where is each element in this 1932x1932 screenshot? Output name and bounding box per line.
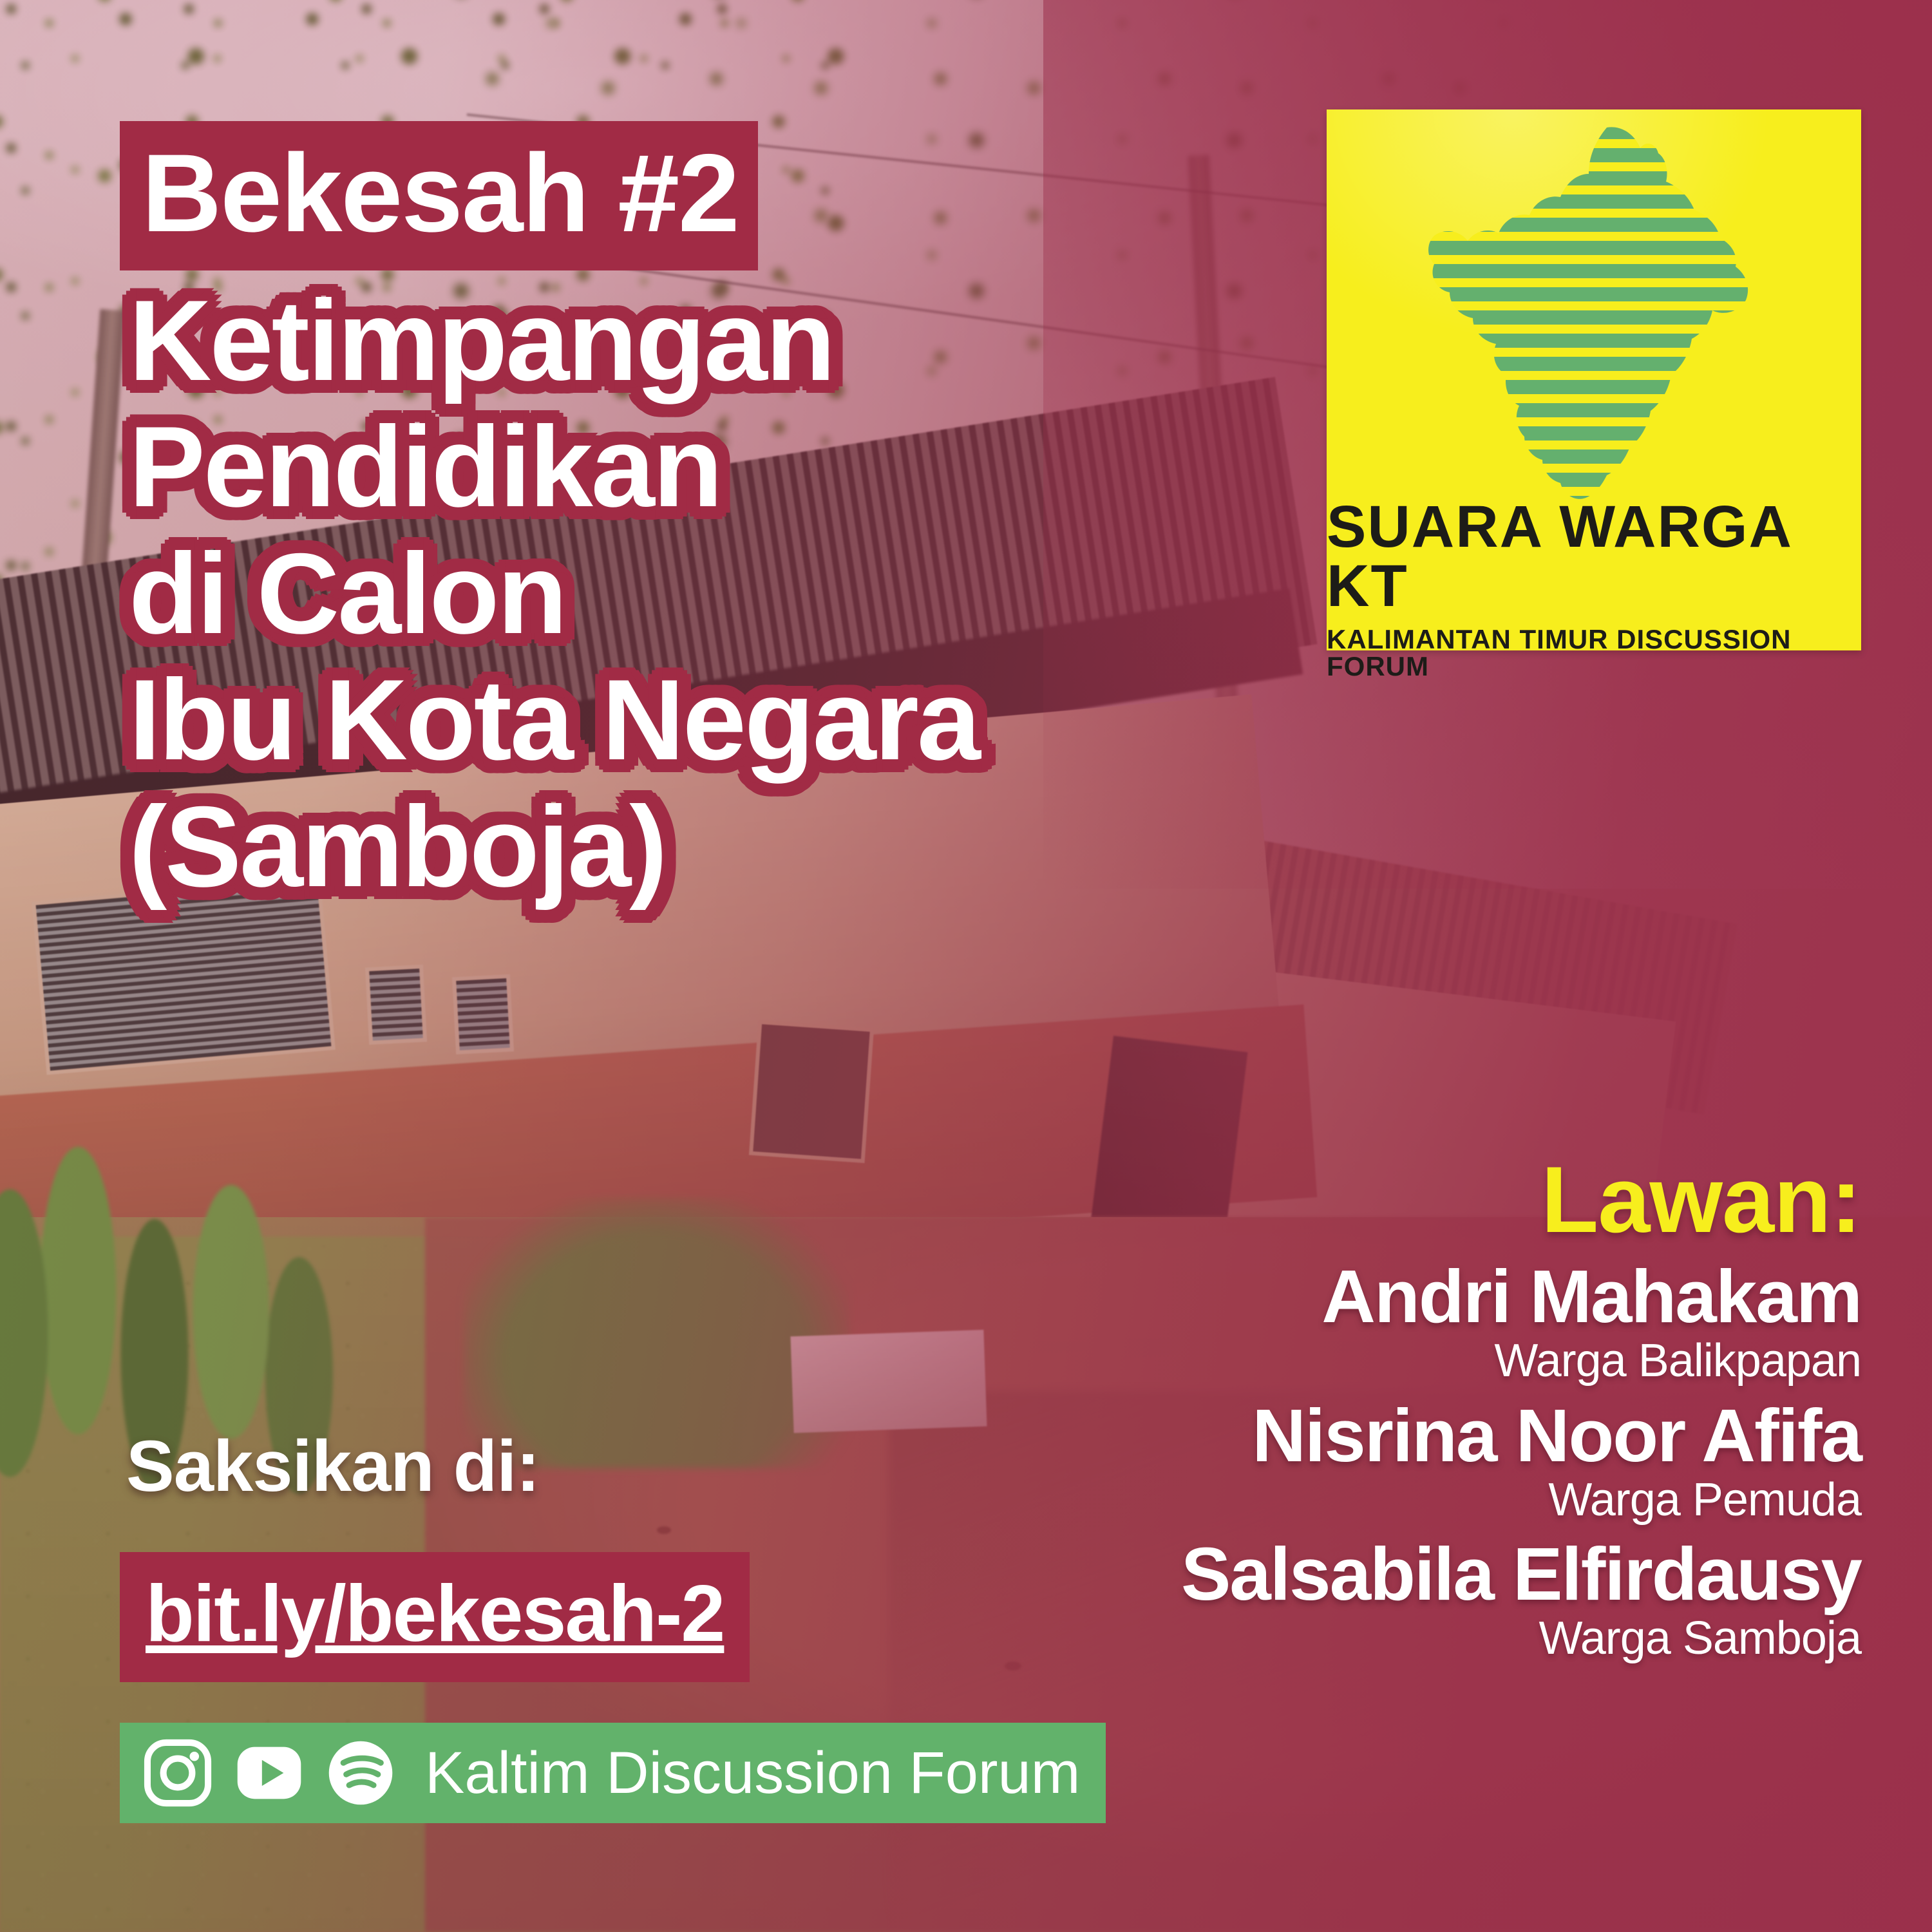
logo-name: SUARA WARGA KT — [1327, 497, 1861, 616]
watch-link-chip[interactable]: bit.ly/bekesah-2 — [120, 1552, 750, 1682]
kalimantan-map-icon — [1327, 120, 1861, 506]
speaker-item: Andri Mahakam Warga Balikpapan — [1024, 1258, 1861, 1387]
headline-line: di Calon — [120, 533, 1253, 655]
speaker-item: Nisrina Noor Afifa Warga Pemuda — [1024, 1397, 1861, 1526]
episode-kicker: Bekesah #2 — [120, 121, 758, 270]
logo-subtitle: KALIMANTAN TIMUR DISCUSSION FORUM — [1327, 626, 1861, 680]
speakers-block: Lawan: Andri Mahakam Warga Balikpapan Ni… — [1024, 1153, 1861, 1675]
speakers-heading: Lawan: — [1024, 1153, 1861, 1247]
headline-line: (Samboja) — [120, 786, 1253, 908]
poster: Bekesah #2 Ketimpangan Pendidikan di Cal… — [0, 0, 1932, 1932]
speaker-role: Warga Balikpapan — [1024, 1336, 1861, 1387]
spotify-icon[interactable] — [325, 1737, 397, 1809]
youtube-icon[interactable] — [233, 1737, 305, 1809]
headline-lines: Ketimpangan Pendidikan di Calon Ibu Kota… — [120, 279, 1253, 908]
social-handle: Kaltim Discussion Forum — [425, 1743, 1080, 1803]
social-bar: Kaltim Discussion Forum — [120, 1723, 1106, 1823]
speaker-role: Warga Samboja — [1024, 1613, 1861, 1664]
watch-label: Saksikan di: — [126, 1425, 540, 1508]
page-title: Ketimpangan Pendidikan di Calon Ibu Kota… — [120, 279, 1253, 908]
title-block: Bekesah #2 Ketimpangan Pendidikan di Cal… — [120, 121, 1382, 912]
headline-line: Ketimpangan — [120, 279, 1253, 402]
headline-line: Pendidikan — [120, 406, 1253, 528]
organization-logo-card: SUARA WARGA KT KALIMANTAN TIMUR DISCUSSI… — [1327, 109, 1861, 650]
speaker-item: Salsabila Elfirdausy Warga Samboja — [1024, 1536, 1861, 1665]
speaker-name: Salsabila Elfirdausy — [1024, 1536, 1861, 1612]
poster-content: Bekesah #2 Ketimpangan Pendidikan di Cal… — [0, 0, 1932, 1932]
headline-line: Ibu Kota Negara — [120, 659, 1253, 781]
speaker-role: Warga Pemuda — [1024, 1475, 1861, 1526]
speaker-name: Andri Mahakam — [1024, 1258, 1861, 1334]
speaker-name: Nisrina Noor Afifa — [1024, 1397, 1861, 1473]
instagram-icon[interactable] — [142, 1737, 214, 1809]
